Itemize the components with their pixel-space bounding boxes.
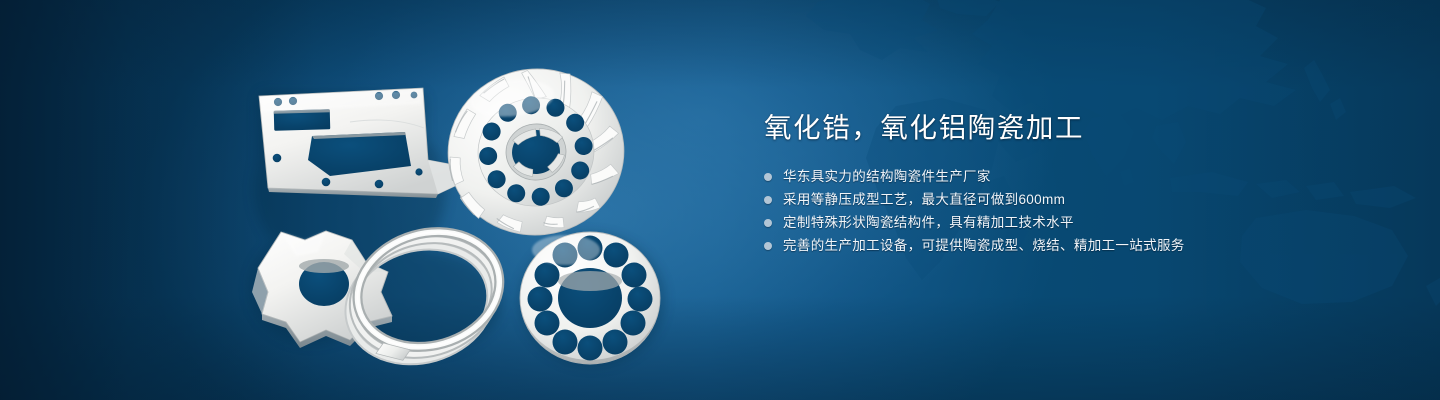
feature-list: 华东具实力的结构陶瓷件生产厂家 采用等静压成型工艺，最大直径可做到600mm 定… <box>764 166 1364 257</box>
page-title: 氧化锆，氧化铝陶瓷加工 <box>764 110 1364 146</box>
feature-text: 定制特殊形状陶瓷结构件，具有精加工技术水平 <box>783 212 1074 234</box>
feature-text: 采用等静压成型工艺，最大直径可做到600mm <box>783 189 1065 211</box>
bullet-dot-icon <box>764 219 772 227</box>
list-item: 采用等静压成型工艺，最大直径可做到600mm <box>764 189 1364 211</box>
list-item: 定制特殊形状陶瓷结构件，具有精加工技术水平 <box>764 212 1364 234</box>
bullet-dot-icon <box>764 196 772 204</box>
list-item: 华东具实力的结构陶瓷件生产厂家 <box>764 166 1364 188</box>
bullet-dot-icon <box>764 242 772 250</box>
bullet-dot-icon <box>764 173 772 181</box>
hero-banner: 氧化锆，氧化铝陶瓷加工 华东具实力的结构陶瓷件生产厂家 采用等静压成型工艺，最大… <box>0 0 1440 400</box>
banner-copy: 氧化锆，氧化铝陶瓷加工 华东具实力的结构陶瓷件生产厂家 采用等静压成型工艺，最大… <box>764 110 1364 258</box>
feature-text: 华东具实力的结构陶瓷件生产厂家 <box>783 166 991 188</box>
list-item: 完善的生产加工设备，可提供陶瓷成型、烧结、精加工一站式服务 <box>764 235 1364 257</box>
feature-text: 完善的生产加工设备，可提供陶瓷成型、烧结、精加工一站式服务 <box>783 235 1185 257</box>
